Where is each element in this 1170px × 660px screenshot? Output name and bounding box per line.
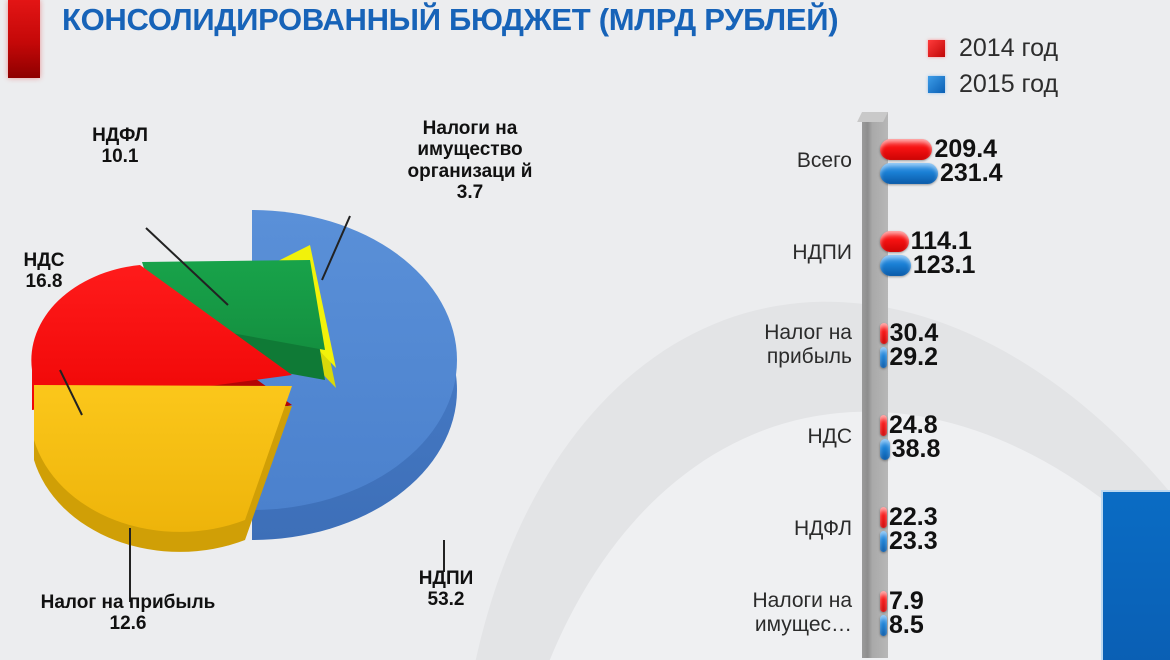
bar-value-rows: 30.429.2	[880, 321, 938, 369]
bar-value-rows: 24.838.8	[880, 413, 940, 461]
bar-2014	[880, 139, 932, 160]
bar-category-label: Всего	[700, 130, 858, 192]
bar-value-label: 23.3	[889, 527, 938, 556]
bar-2014	[880, 507, 887, 528]
legend-swatch-red-icon	[928, 40, 945, 57]
bar-group: Налоги на имущес…7.98.5	[700, 582, 1100, 644]
bar-value-label: 231.4	[940, 159, 1003, 188]
bar-row: 231.4	[880, 161, 1003, 185]
bar-row: 24.8	[880, 413, 940, 437]
bar-row: 123.1	[880, 253, 975, 277]
bar-2014	[880, 591, 887, 612]
pie-label-property-tax: Налоги на имущество организаци й 3.7	[395, 118, 545, 203]
bar-2014	[880, 323, 888, 344]
bar-2014	[880, 231, 909, 252]
bar-2015	[880, 615, 887, 636]
bar-value-label: 38.8	[892, 435, 941, 464]
pie-label-profit-tax: Налог на прибыль 12.6	[38, 592, 218, 635]
bar-row: 209.4	[880, 137, 1003, 161]
chart-legend: 2014 год 2015 год	[928, 30, 1058, 102]
bar-chart-axis-wall-top	[857, 112, 888, 122]
title-accent-bar	[8, 0, 40, 78]
bar-2015	[880, 255, 911, 276]
bar-value-label: 123.1	[913, 251, 976, 280]
bar-value-rows: 209.4231.4	[880, 137, 1003, 185]
bar-row: 38.8	[880, 437, 940, 461]
bar-row: 7.9	[880, 589, 924, 613]
legend-label-2014: 2014 год	[959, 34, 1058, 63]
bar-category-label: НДС	[700, 406, 858, 468]
bar-category-label: Налоги на имущес…	[700, 582, 858, 644]
bar-row: 30.4	[880, 321, 938, 345]
legend-item-2015: 2015 год	[928, 66, 1058, 102]
bar-row: 8.5	[880, 613, 924, 637]
bar-group: НДФЛ22.323.3	[700, 498, 1100, 560]
bar-2015	[880, 439, 890, 460]
bar-2015	[880, 347, 887, 368]
decorative-blue-block	[1101, 490, 1170, 660]
bar-category-label: Налог на прибыль	[700, 314, 858, 376]
bar-chart: Всего209.4231.4НДПИ114.1123.1Налог на пр…	[700, 112, 1100, 660]
pie-label-ndfl: НДФЛ 10.1	[60, 125, 180, 168]
legend-swatch-blue-icon	[928, 76, 945, 93]
pie-label-nds: НДС 16.8	[0, 250, 92, 293]
pie-chart: НДФЛ 10.1 НДС 16.8 Налоги на имущество о…	[20, 210, 720, 660]
bar-2015	[880, 163, 938, 184]
bar-value-rows: 7.98.5	[880, 589, 924, 637]
bar-2014	[880, 415, 887, 436]
page-title: КОНСОЛИДИРОВАННЫЙ БЮДЖЕТ (МЛРД РУБЛЕЙ)	[62, 2, 882, 38]
bar-group: НДС24.838.8	[700, 406, 1100, 468]
bar-group: Всего209.4231.4	[700, 130, 1100, 192]
bar-row: 23.3	[880, 529, 938, 553]
bar-value-label: 29.2	[889, 343, 938, 372]
bar-value-rows: 114.1123.1	[880, 229, 975, 277]
pie-label-ndpi: НДПИ 53.2	[392, 568, 500, 611]
bar-category-label: НДФЛ	[700, 498, 858, 560]
infographic-canvas: КОНСОЛИДИРОВАННЫЙ БЮДЖЕТ (МЛРД РУБЛЕЙ) 2…	[0, 0, 1170, 660]
bar-category-label: НДПИ	[700, 222, 858, 284]
legend-label-2015: 2015 год	[959, 70, 1058, 99]
bar-group: Налог на прибыль30.429.2	[700, 314, 1100, 376]
bar-value-rows: 22.323.3	[880, 505, 938, 553]
bar-row: 22.3	[880, 505, 938, 529]
bar-value-label: 8.5	[889, 611, 924, 640]
bar-chart-axis-wall	[862, 112, 888, 658]
bar-group: НДПИ114.1123.1	[700, 222, 1100, 284]
bar-row: 114.1	[880, 229, 975, 253]
bar-row: 29.2	[880, 345, 938, 369]
legend-item-2014: 2014 год	[928, 30, 1058, 66]
bar-2015	[880, 531, 887, 552]
